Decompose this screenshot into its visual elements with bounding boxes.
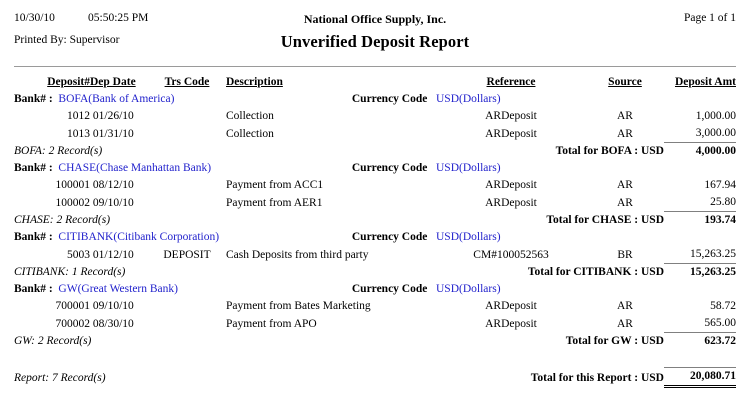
bank-label: Bank# : <box>14 162 53 174</box>
cell-description: Collection <box>226 125 436 143</box>
cell-trs-code <box>148 194 226 212</box>
cell-dep-date-text: 08/12/10 <box>93 179 134 191</box>
cell-description: Payment from AER1 <box>226 194 436 212</box>
cell-deposit-no: 100002 <box>14 194 90 212</box>
currency-code-value-cell: USD(Dollars) <box>436 91 736 108</box>
cell-deposit-amt: 1,000.00 <box>664 108 736 125</box>
column-header-dep-date-label: Dep Date <box>90 76 136 88</box>
bank-header-row: Bank# : CHASE(Chase Manhattan Bank)Curre… <box>14 160 736 177</box>
bank-name-link[interactable]: GW(Great Western Bank) <box>58 283 178 295</box>
cell-deposit-amt: 58.72 <box>664 298 736 315</box>
bank-total-amount: 15,263.25 <box>664 264 736 282</box>
column-header-row: Deposit# Dep Date Trs Code Description R… <box>14 74 736 91</box>
cell-trs-code <box>148 298 226 315</box>
column-header-trs-code: Trs Code <box>148 74 226 91</box>
page-title: Unverified Deposit Report <box>0 32 750 52</box>
column-header-dep-date: Dep Date <box>90 74 148 91</box>
report-body: Deposit# Dep Date Trs Code Description R… <box>0 74 750 388</box>
cell-reference: ARDeposit <box>436 177 586 194</box>
cell-source: AR <box>586 315 664 333</box>
cell-dep-date-text: 01/26/10 <box>93 110 134 122</box>
currency-code-value: USD(Dollars) <box>436 162 501 174</box>
cell-trs-code <box>148 125 226 143</box>
bank-total-label: Total for BOFA : USD <box>226 143 664 161</box>
cell-dep-date: 09/10/10 <box>90 298 148 315</box>
currency-code-value-cell: USD(Dollars) <box>436 229 736 246</box>
cell-deposit-no: 700002 <box>14 315 90 333</box>
currency-code-label: Currency Code <box>352 93 428 105</box>
cell-trs-code <box>148 177 226 194</box>
column-header-deposit-amt: Deposit Amt <box>664 74 736 91</box>
bank-identifier: Bank# : BOFA(Bank of America) <box>14 91 226 108</box>
cell-dep-date: 01/12/10 <box>90 246 148 264</box>
bank-subtotal-row: CHASE: 2 Record(s)Total for CHASE : USD1… <box>14 212 736 230</box>
report-header: 10/30/10 05:50:25 PM National Office Sup… <box>0 0 750 56</box>
bank-subtotal-row: BOFA: 2 Record(s)Total for BOFA : USD4,0… <box>14 143 736 161</box>
column-header-source: Source <box>586 74 664 91</box>
currency-code-value-cell: USD(Dollars) <box>436 160 736 177</box>
currency-code-value: USD(Dollars) <box>436 283 501 295</box>
report-record-count: Report: 7 Record(s) <box>14 368 226 387</box>
cell-reference: ARDeposit <box>436 108 586 125</box>
column-header-source-label: Source <box>608 76 642 88</box>
bank-total-label: Total for CITIBANK : USD <box>226 264 664 282</box>
report-page: 10/30/10 05:50:25 PM National Office Sup… <box>0 0 750 413</box>
table-row[interactable]: 700001 09/10/10Payment from Bates Market… <box>14 298 736 315</box>
column-header-deposit-amt-label: Deposit Amt <box>675 76 736 88</box>
bank-record-count: CHASE: 2 Record(s) <box>14 212 226 230</box>
currency-code-value-cell: USD(Dollars) <box>436 281 736 298</box>
currency-code-label-cell: Currency Code <box>226 91 436 108</box>
report-footer-group: Report: 7 Record(s) Total for this Repor… <box>14 350 736 387</box>
column-header-deposit-no: Deposit# <box>14 74 90 91</box>
column-header-reference-label: Reference <box>487 76 536 88</box>
bank-identifier: Bank# : CITIBANK(Citibank Corporation) <box>14 229 226 246</box>
column-header-deposit-no-label: Deposit# <box>47 76 90 88</box>
column-header-reference: Reference <box>436 74 586 91</box>
bank-total-label: Total for GW : USD <box>226 333 664 351</box>
cell-deposit-no: 5003 <box>14 246 90 264</box>
cell-source: AR <box>586 298 664 315</box>
cell-reference: ARDeposit <box>436 298 586 315</box>
column-header-description: Description <box>226 74 436 91</box>
bank-header-row: Bank# : GW(Great Western Bank)Currency C… <box>14 281 736 298</box>
page-indicator: Page 1 of 1 <box>684 12 736 24</box>
header-line-2: Printed By: Supervisor Unverified Deposi… <box>0 32 750 50</box>
cell-dep-date: 09/10/10 <box>90 194 148 212</box>
table-row[interactable]: 100002 09/10/10Payment from AER1ARDeposi… <box>14 194 736 212</box>
table-row[interactable]: 700002 08/30/10Payment from APOARDeposit… <box>14 315 736 333</box>
cell-dep-date-text: 01/31/10 <box>93 128 134 140</box>
bank-label: Bank# : <box>14 93 53 105</box>
cell-reference: ARDeposit <box>436 194 586 212</box>
cell-deposit-no: 1013 <box>14 125 90 143</box>
table-row[interactable]: 1012 01/26/10CollectionARDepositAR1,000.… <box>14 108 736 125</box>
header-line-1: 10/30/10 05:50:25 PM National Office Sup… <box>0 12 750 26</box>
cell-trs-code: DEPOSIT <box>148 246 226 264</box>
bank-identifier: Bank# : GW(Great Western Bank) <box>14 281 226 298</box>
cell-deposit-no: 1012 <box>14 108 90 125</box>
bank-record-count: BOFA: 2 Record(s) <box>14 143 226 161</box>
bank-groups: Bank# : BOFA(Bank of America)Currency Co… <box>14 91 736 350</box>
cell-deposit-amt: 15,263.25 <box>664 246 736 264</box>
currency-code-label-cell: Currency Code <box>226 160 436 177</box>
report-total-amount: 20,080.71 <box>664 368 736 387</box>
cell-dep-date: 08/30/10 <box>90 315 148 333</box>
cell-source: BR <box>586 246 664 264</box>
deposit-table: Deposit# Dep Date Trs Code Description R… <box>14 74 736 388</box>
header-divider <box>14 66 736 67</box>
bank-label: Bank# : <box>14 231 53 243</box>
bank-record-count: GW: 2 Record(s) <box>14 333 226 351</box>
currency-code-label-cell: Currency Code <box>226 229 436 246</box>
report-total-label: Total for this Report : USD <box>226 368 664 387</box>
cell-deposit-amt: 565.00 <box>664 315 736 333</box>
cell-description: Payment from ACC1 <box>226 177 436 194</box>
cell-description: Cash Deposits from third party <box>226 246 436 264</box>
bank-header-row: Bank# : CITIBANK(Citibank Corporation)Cu… <box>14 229 736 246</box>
column-header-description-label: Description <box>226 76 283 88</box>
column-header-trs-code-label: Trs Code <box>165 76 210 88</box>
cell-deposit-no: 100001 <box>14 177 90 194</box>
bank-subtotal-row: CITIBANK: 1 Record(s)Total for CITIBANK … <box>14 264 736 282</box>
cell-dep-date-text: 09/10/10 <box>93 300 134 312</box>
bank-total-amount: 4,000.00 <box>664 143 736 161</box>
cell-reference: CM#100052563 <box>436 246 586 264</box>
currency-code-label: Currency Code <box>352 231 428 243</box>
cell-source: AR <box>586 108 664 125</box>
cell-trs-code <box>148 315 226 333</box>
table-row[interactable]: 5003 01/12/10DEPOSITCash Deposits from t… <box>14 246 736 264</box>
cell-description: Payment from APO <box>226 315 436 333</box>
table-row[interactable]: 100001 08/12/10Payment from ACC1ARDeposi… <box>14 177 736 194</box>
report-total-row: Report: 7 Record(s) Total for this Repor… <box>14 368 736 387</box>
cell-source: AR <box>586 177 664 194</box>
cell-deposit-amt: 167.94 <box>664 177 736 194</box>
bank-subtotal-row: GW: 2 Record(s)Total for GW : USD623.72 <box>14 333 736 351</box>
cell-dep-date: 01/26/10 <box>90 108 148 125</box>
bank-total-label: Total for CHASE : USD <box>226 212 664 230</box>
cell-description: Collection <box>226 108 436 125</box>
cell-dep-date-text: 08/30/10 <box>93 318 134 330</box>
currency-code-label: Currency Code <box>352 283 428 295</box>
cell-dep-date: 08/12/10 <box>90 177 148 194</box>
bank-identifier: Bank# : CHASE(Chase Manhattan Bank) <box>14 160 226 177</box>
bank-header-row: Bank# : BOFA(Bank of America)Currency Co… <box>14 91 736 108</box>
cell-deposit-amt: 25.80 <box>664 194 736 212</box>
table-row[interactable]: 1013 01/31/10CollectionARDepositAR3,000.… <box>14 125 736 143</box>
cell-dep-date: 01/31/10 <box>90 125 148 143</box>
bank-total-amount: 623.72 <box>664 333 736 351</box>
cell-deposit-no: 700001 <box>14 298 90 315</box>
cell-deposit-amt: 3,000.00 <box>664 125 736 143</box>
bank-label: Bank# : <box>14 283 53 295</box>
currency-code-label-cell: Currency Code <box>226 281 436 298</box>
bank-name-link[interactable]: CHASE(Chase Manhattan Bank) <box>58 162 211 174</box>
footer-spacer <box>14 350 736 368</box>
cell-dep-date-text: 01/12/10 <box>93 249 134 261</box>
cell-dep-date-text: 09/10/10 <box>93 197 134 209</box>
cell-source: AR <box>586 194 664 212</box>
cell-description: Payment from Bates Marketing <box>226 298 436 315</box>
table-head-group: Deposit# Dep Date Trs Code Description R… <box>14 74 736 91</box>
cell-reference: ARDeposit <box>436 125 586 143</box>
bank-name-link[interactable]: CITIBANK(Citibank Corporation) <box>58 231 219 243</box>
bank-record-count: CITIBANK: 1 Record(s) <box>14 264 226 282</box>
currency-code-value: USD(Dollars) <box>436 231 501 243</box>
cell-trs-code <box>148 108 226 125</box>
currency-code-value: USD(Dollars) <box>436 93 501 105</box>
bank-total-amount: 193.74 <box>664 212 736 230</box>
currency-code-label: Currency Code <box>352 162 428 174</box>
cell-reference: ARDeposit <box>436 315 586 333</box>
cell-source: AR <box>586 125 664 143</box>
company-name: National Office Supply, Inc. <box>0 12 750 27</box>
bank-name-link[interactable]: BOFA(Bank of America) <box>58 93 174 105</box>
